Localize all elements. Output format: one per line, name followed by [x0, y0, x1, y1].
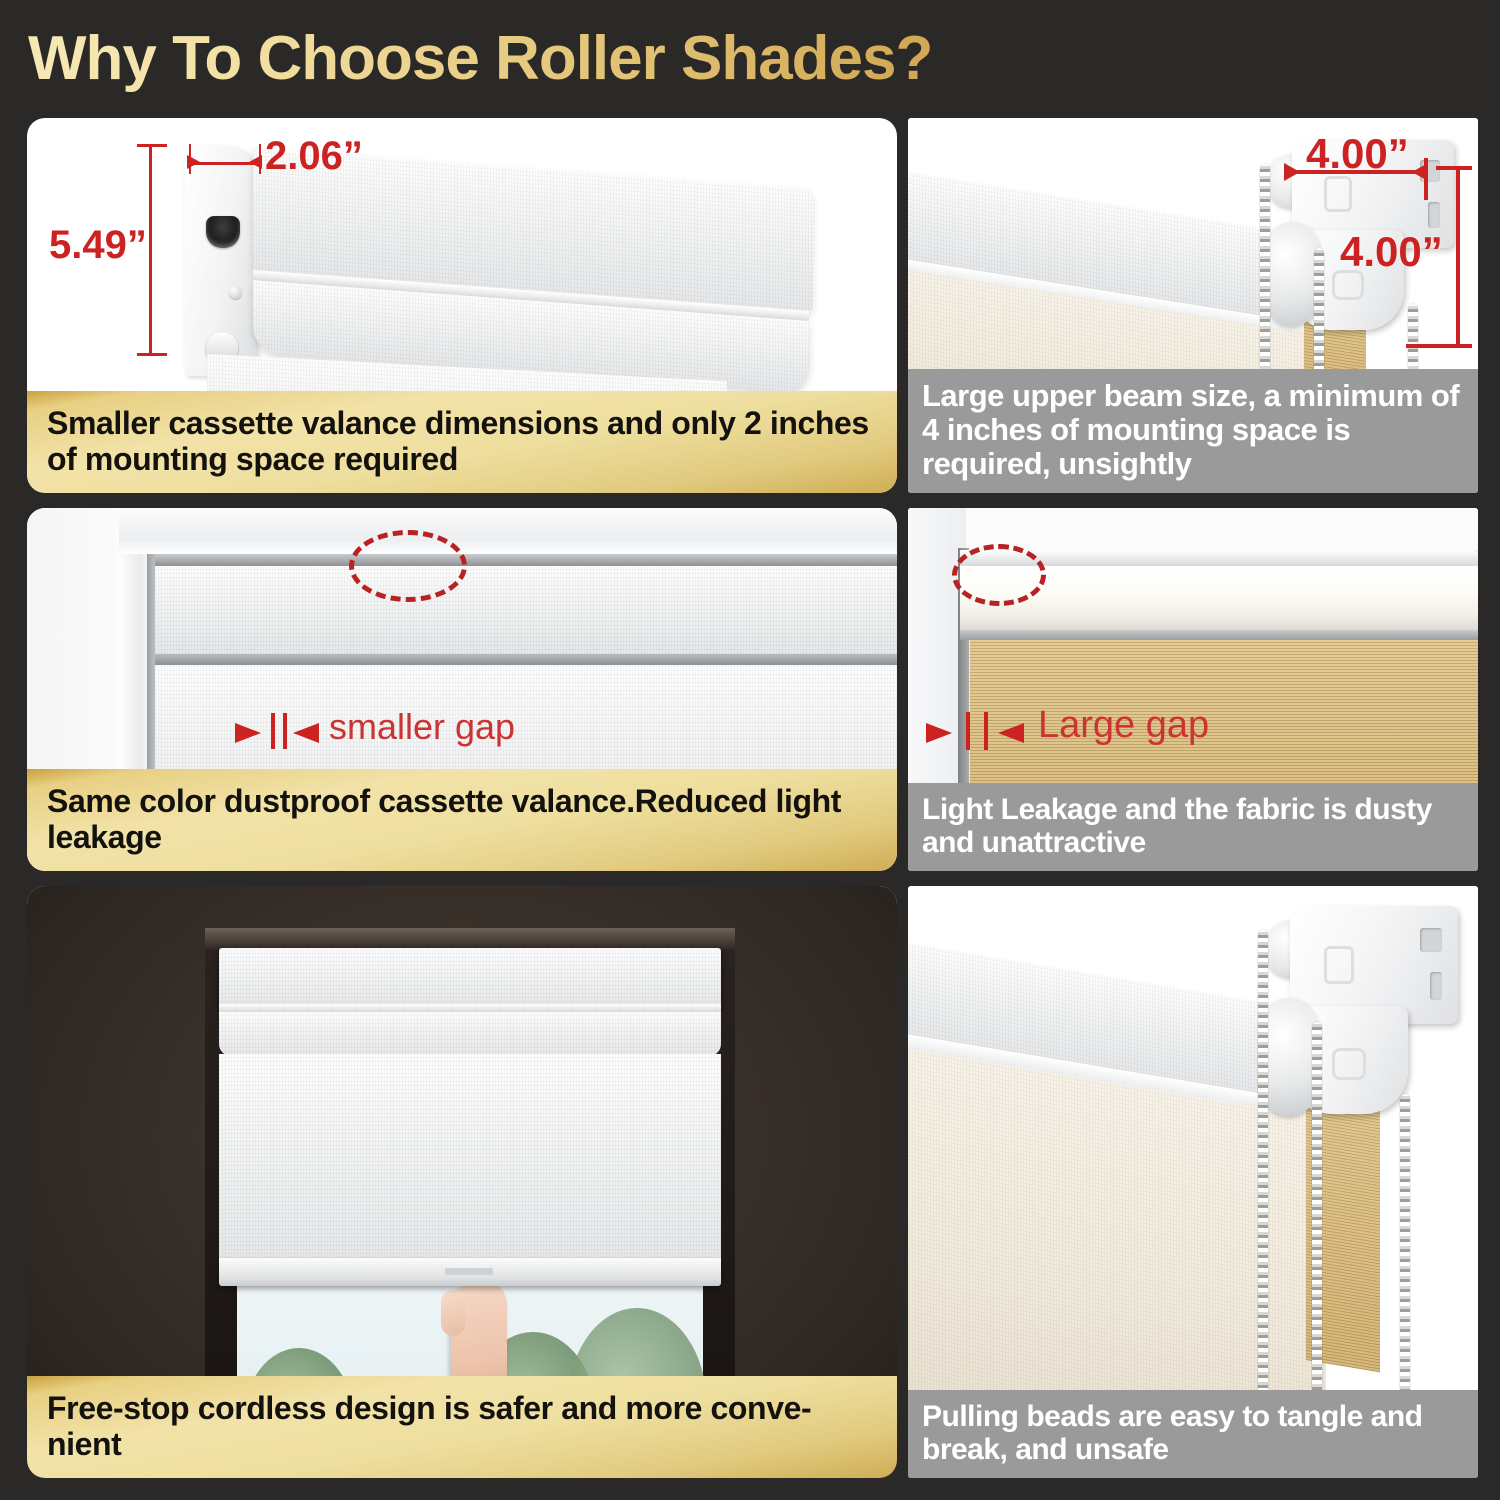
caption-bar-pro-cordless: Free-stop cordless design is safer and m… [27, 1376, 897, 1478]
panel-pro-cassette-dimensions: 2.06” 5.49” Smaller cassette valance dim… [27, 118, 897, 493]
screw-icon [229, 286, 242, 299]
caption-bar-pro-smaller-gap: Same color dustproof cassette valance.Re… [27, 769, 897, 871]
caption-text: Smaller cassette valance dimensions and … [47, 405, 877, 477]
panel-pro-cordless-design: Free-stop cordless design is safer and m… [27, 886, 897, 1478]
caption-text: Pulling beads are easy to tangle and bre… [922, 1400, 1464, 1466]
bead-chain-right[interactable] [1400, 1094, 1410, 1398]
gap-tick-right [984, 712, 988, 750]
dim-arrow-left [1284, 163, 1300, 181]
roller-end-disc-lower [1264, 222, 1320, 326]
dim-line-height [149, 144, 152, 356]
gap-arrow-left [235, 723, 261, 743]
dim-cap-top [137, 144, 167, 147]
panel-con-light-leakage: Large gap Light Leakage and the fabric i… [908, 508, 1478, 871]
gap-arrow-right [998, 723, 1024, 743]
shade-fabric-upper [155, 566, 897, 654]
panel-pro-smaller-gap: smaller gap Same color dustproof cassett… [27, 508, 897, 871]
dim-arrow-left [187, 155, 200, 169]
gap-label: Large gap [1038, 704, 1209, 747]
dimension-label-width: 4.00” [1306, 130, 1409, 178]
window-frame-top [119, 508, 897, 554]
cassette-slot-icon [206, 216, 240, 248]
dimension-label-width: 2.06” [265, 134, 363, 179]
caption-bar-pro-cassette: Smaller cassette valance dimensions and … [27, 391, 897, 493]
caption-text: Same color dustproof cassette valance.Re… [47, 783, 877, 855]
bead-chain-middle[interactable] [1312, 1022, 1322, 1398]
dimension-label-height: 4.00” [1340, 228, 1443, 276]
dim-arrow-right [249, 155, 262, 169]
cassette-valance [219, 948, 721, 1010]
caption-bar-con-pulling-beads: Pulling beads are easy to tangle and bre… [908, 1390, 1478, 1478]
roller-end-disc-lower [1260, 998, 1318, 1116]
window-jamb-top [205, 928, 735, 950]
dim-cap-bottom [1406, 344, 1472, 348]
dimension-label-height: 5.49” [49, 223, 147, 268]
dim-cap-bottom [137, 353, 167, 356]
bracket-eye-lower-icon [1332, 1048, 1366, 1080]
cassette-divider [155, 654, 897, 665]
caption-bar-con-light-leakage: Light Leakage and the fabric is dusty an… [908, 783, 1478, 871]
gap-tick-left [966, 712, 970, 750]
bracket-eye-icon [1324, 946, 1354, 984]
bracket-notch-upper [1420, 928, 1442, 952]
gap-label: smaller gap [329, 706, 515, 748]
dim-line-height [1456, 166, 1460, 348]
cassette-headrail [155, 554, 897, 566]
caption-text: Large upper beam size, a minimum of 4 in… [922, 379, 1464, 481]
caption-bar-con-large-beam: Large upper beam size, a minimum of 4 in… [908, 369, 1478, 493]
upper-beam-lip [960, 630, 1478, 640]
shade-fabric [219, 1054, 721, 1266]
thumb [441, 1290, 465, 1336]
bracket-eye-icon [1324, 176, 1352, 212]
panel-con-large-upper-beam: 4.00” 4.00” Large upper beam size, a min… [908, 118, 1478, 493]
bracket-notch-lower [1430, 972, 1442, 1000]
gap-arrow-left [926, 723, 952, 743]
highlight-ellipse-annotation [952, 544, 1046, 606]
highlight-ellipse-annotation [349, 530, 467, 602]
gap-tick-right [283, 713, 287, 749]
bead-chain-left[interactable] [1258, 930, 1268, 1398]
caption-text: Light Leakage and the fabric is dusty an… [922, 793, 1464, 859]
bracket-notch-lower [1428, 202, 1440, 228]
dim-cap-top [1436, 166, 1472, 170]
gap-tick-left [271, 713, 275, 749]
panel-con-pulling-beads: Pulling beads are easy to tangle and bre… [908, 886, 1478, 1478]
dim-ext-right [1424, 158, 1428, 200]
page-title: Why To Choose Roller Shades? [28, 20, 1228, 98]
bottom-rail-grip[interactable] [445, 1268, 493, 1275]
cassette-end-cap [185, 146, 257, 376]
gap-arrow-right [293, 723, 319, 743]
caption-text: Free-stop cordless design is safer and m… [47, 1390, 877, 1462]
roller-tube [219, 1012, 721, 1056]
